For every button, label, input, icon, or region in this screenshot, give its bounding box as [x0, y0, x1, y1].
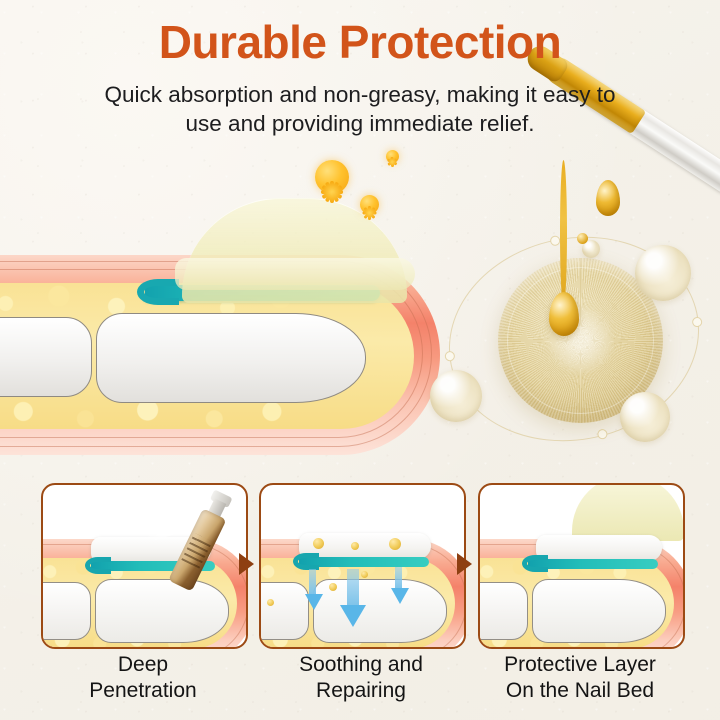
oil-stream: [560, 160, 567, 305]
step-illustration: [259, 539, 466, 649]
oil-droplet: [577, 233, 588, 244]
caption-line-1: Soothing and: [299, 653, 423, 676]
step-caption-soothing-and-repairing: Soothing and Repairing: [241, 652, 481, 704]
nail-plate: [175, 258, 415, 290]
caption-line-2: On the Nail Bed: [506, 679, 654, 702]
bone-segment: [96, 313, 366, 403]
step-panel-deep-penetration[interactable]: [41, 483, 248, 649]
germ-particle-icon: [386, 150, 399, 163]
subtitle-line-1: Quick absorption and non-greasy, making …: [104, 82, 615, 107]
oil-droplet: [596, 180, 620, 216]
germ-particle-icon: [360, 195, 379, 214]
step-arrow-icon: [457, 553, 472, 575]
caption-line-2: Penetration: [89, 679, 196, 702]
bone-segment: [0, 317, 92, 397]
steps-section: Deep Penetration Soothing and Repairing …: [0, 480, 720, 720]
step-illustration: [478, 539, 685, 649]
page-subtitle: Quick absorption and non-greasy, making …: [60, 80, 660, 138]
spray-mist: [133, 487, 190, 543]
step-caption-protective-layer: Protective Layer On the Nail Bed: [460, 652, 700, 704]
subtitle-line-2: use and providing immediate relief.: [186, 111, 535, 136]
step-arrow-icon: [239, 553, 254, 575]
oil-bubble: [635, 245, 691, 301]
step-caption-deep-penetration: Deep Penetration: [23, 652, 263, 704]
step-illustration: [41, 539, 248, 649]
oil-bubble: [620, 392, 670, 442]
infographic-canvas: Durable Protection Quick absorption and …: [0, 0, 720, 720]
caption-line-1: Deep: [118, 653, 168, 676]
nail-cross-section-illustration: [0, 255, 440, 455]
caption-line-2: Repairing: [316, 679, 406, 702]
step-panel-soothing-and-repairing[interactable]: [259, 483, 466, 649]
protective-dome: [572, 483, 684, 541]
caption-line-1: Protective Layer: [504, 653, 656, 676]
page-title: Durable Protection: [0, 17, 720, 67]
germ-particle-icon: [315, 160, 349, 194]
oil-bubble: [430, 370, 482, 422]
step-panel-protective-layer[interactable]: [478, 483, 685, 649]
